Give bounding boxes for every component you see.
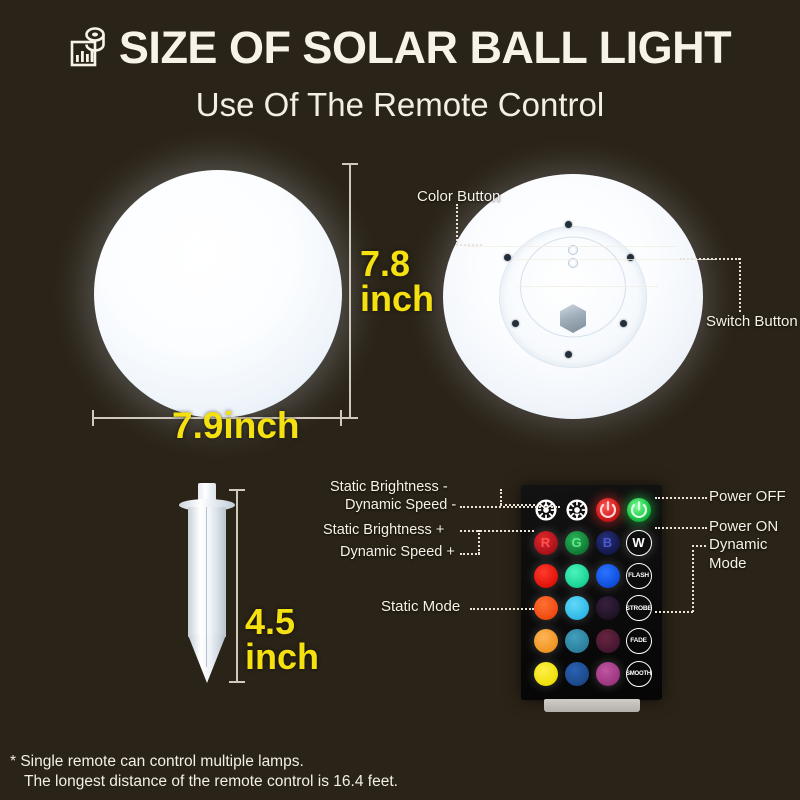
color-teal-button[interactable] [565, 629, 589, 653]
button-label: FLASH [628, 572, 649, 579]
leader-dsp-h [460, 553, 480, 555]
color-blue2-button[interactable] [596, 564, 620, 588]
color-green-button[interactable]: G [565, 531, 589, 555]
color-darkpurple-button[interactable] [596, 596, 620, 620]
screw [565, 351, 572, 358]
color-red-button[interactable]: R [534, 531, 558, 555]
button-label: G [571, 535, 581, 550]
leader-switch-button-h [680, 258, 740, 260]
leader-power-off [655, 497, 707, 499]
callout-power-off: Power OFF [709, 488, 786, 507]
color-orangered-button[interactable] [534, 596, 558, 620]
switch-button[interactable] [569, 259, 577, 267]
leader-color-button-h [456, 244, 482, 246]
dimension-cap-left [92, 410, 94, 426]
screw [620, 320, 627, 327]
callout-static-brightness-minus: Static Brightness - [330, 478, 448, 496]
color-navy-button[interactable] [565, 662, 589, 686]
callout-line-hex [518, 286, 658, 287]
flash-button[interactable]: FLASH [626, 563, 652, 589]
screw [504, 254, 511, 261]
power-icon [597, 499, 619, 521]
button-label: W [632, 535, 644, 550]
leader-sbp-h [460, 530, 534, 532]
page-subtitle: Use Of The Remote Control [0, 88, 800, 121]
header: SIZE OF SOLAR BALL LIGHT [0, 18, 800, 76]
dimension-cap-bottom [342, 417, 358, 419]
stake-seam [206, 507, 207, 667]
stake-body [188, 507, 226, 637]
remote-button-grid: R G B W FLASH STROBE [530, 494, 654, 690]
leader-switch-button-v [739, 258, 741, 312]
fade-button[interactable]: FADE [626, 628, 652, 654]
dimension-cap-stake-bottom [229, 681, 245, 683]
callout-switch-button: Switch Button [706, 313, 798, 332]
dimension-line-stake [236, 489, 238, 683]
screw [512, 320, 519, 327]
color-maroon-button[interactable] [596, 629, 620, 653]
dimension-cap-right [340, 410, 342, 426]
leader-dynamic-mode-h [655, 611, 693, 613]
dimension-cap-top [342, 163, 358, 165]
leader-power-on [655, 527, 707, 529]
callout-dynamic-speed-plus: Dynamic Speed + [340, 543, 455, 561]
color-springgreen-button[interactable] [565, 564, 589, 588]
brightness-up-icon [535, 499, 557, 521]
callout-power-on: Power ON [709, 518, 778, 537]
leader-dsm-h [460, 506, 560, 508]
footnote-1: * Single remote can control multiple lam… [10, 752, 304, 773]
leader-dsp-v [478, 530, 480, 554]
page-title: SIZE OF SOLAR BALL LIGHT [119, 25, 731, 70]
button-label: SMOOTH [626, 671, 651, 677]
dimension-label-width: 7.9inch [172, 408, 300, 444]
color-blue-button[interactable]: B [596, 531, 620, 555]
measuring-tape-icon [69, 26, 109, 68]
leader-dynamic-mode-top [692, 545, 706, 547]
brightness-down-button[interactable] [565, 498, 589, 522]
leader-color-button-v [456, 204, 458, 244]
leader-sbm-v [500, 489, 502, 505]
button-label: B [603, 535, 612, 550]
dimension-cap-stake-top [229, 489, 245, 491]
remote-control[interactable]: R G B W FLASH STROBE [521, 485, 662, 700]
dimension-label-height: 7.8 inch [360, 247, 434, 316]
stake-tip [188, 635, 226, 683]
callout-line-color-button [466, 246, 676, 247]
color-button[interactable] [569, 246, 577, 254]
button-label: FADE [630, 637, 647, 644]
dimension-line-height [349, 163, 351, 419]
callout-dynamic-mode: Dynamic Mode [709, 536, 767, 574]
smooth-button[interactable]: SMOOTH [626, 661, 652, 687]
leader-static-mode [470, 608, 534, 610]
color-cyan-button[interactable] [565, 596, 589, 620]
callout-dynamic-speed-minus: Dynamic Speed - [345, 496, 456, 514]
color-yellow-button[interactable] [534, 662, 558, 686]
strobe-button[interactable]: STROBE [626, 595, 652, 621]
screw [565, 221, 572, 228]
color-red2-button[interactable] [534, 564, 558, 588]
solar-ball-bottom-view [443, 174, 703, 419]
leader-dynamic-mode-v [692, 545, 694, 612]
color-magenta-button[interactable] [596, 662, 620, 686]
callout-static-brightness-plus: Static Brightness + [323, 521, 444, 539]
power-off-button[interactable] [596, 498, 620, 522]
power-on-button[interactable] [627, 498, 651, 522]
brightness-up-button[interactable] [534, 498, 558, 522]
ground-stake [176, 483, 238, 683]
button-label: STROBE [626, 605, 652, 612]
color-orange-button[interactable] [534, 629, 558, 653]
power-icon [628, 499, 650, 521]
remote-stand [544, 699, 640, 712]
callout-static-mode: Static Mode [381, 598, 460, 617]
brightness-down-icon [566, 499, 588, 521]
color-white-button[interactable]: W [626, 530, 652, 556]
callout-color-button: Color Button [417, 188, 500, 207]
button-label: R [541, 535, 550, 550]
dimension-label-stake: 4.5 inch [245, 605, 319, 674]
solar-ball-side-view [94, 170, 342, 418]
footnote-2: The longest distance of the remote contr… [24, 772, 398, 793]
infographic-canvas: SIZE OF SOLAR BALL LIGHT Use Of The Remo… [0, 0, 800, 800]
